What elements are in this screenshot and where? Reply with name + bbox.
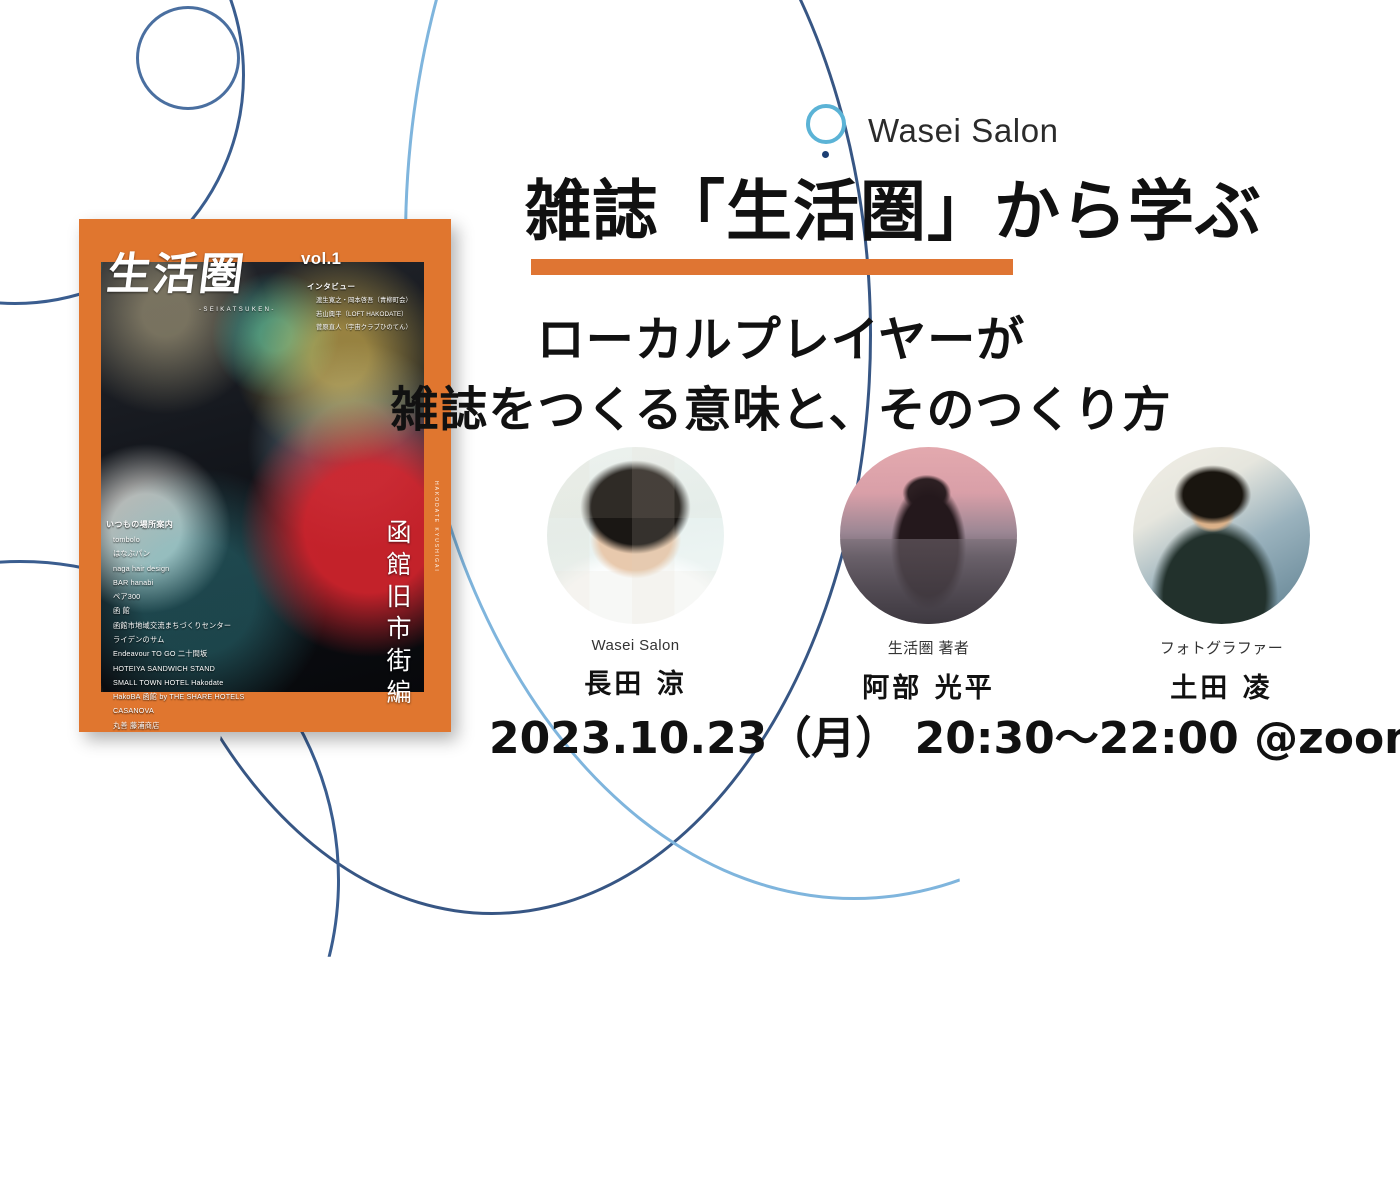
interview-item: 菅原直人（宇宙クラブひのてん） — [316, 324, 432, 332]
place-list-item: ライデンのサム — [113, 636, 336, 644]
decorative-circle-small — [136, 6, 240, 110]
speaker-card: 生活圏 著者 阿部 光平 — [782, 447, 1075, 705]
place-list-item: CASANOVA — [113, 707, 336, 715]
place-list-item: HOTEIYA SANDWICH STAND — [113, 665, 336, 673]
logo-dot-shape — [822, 151, 829, 158]
speaker-name: 土田 凌 — [1170, 666, 1272, 705]
speaker-name: 長田 涼 — [584, 662, 686, 701]
speaker-role: Wasei Salon — [591, 637, 679, 654]
page-title: 雑誌「生活圏」から学ぶ — [525, 176, 1355, 247]
subtitle-line-2: 雑誌をつくる意味と、そのつくり方 — [81, 370, 1400, 440]
speaker-card: Wasei Salon 長田 涼 — [489, 447, 782, 705]
place-list-item: 函 館 — [113, 607, 336, 615]
interview-heading: インタビュー — [307, 281, 432, 292]
title-underline-bar — [531, 259, 1013, 275]
place-list-item: tombolo — [113, 536, 336, 544]
place-list-item: ペア300 — [113, 593, 336, 601]
place-list-item: 丸善 藤浦商店 — [113, 722, 336, 730]
magazine-volume: vol.1 — [301, 249, 341, 269]
place-list-item: BAR hanabi — [113, 579, 336, 587]
magazine-title-romaji: -SEIKATSUKEN- — [199, 307, 276, 313]
interview-item: 若山興平（LOFT HAKODATE） — [316, 311, 432, 319]
speaker-role: フォトグラファー — [1160, 637, 1283, 658]
speaker-name: 阿部 光平 — [862, 666, 994, 705]
magazine-vertical-title: 函館旧市街編 — [379, 519, 415, 711]
place-list-item: 函館市地域交流まちづくりセンター — [113, 622, 336, 630]
place-list-item: SMALL TOWN HOTEL Hakodate — [113, 679, 336, 687]
poster-canvas: 生活圏 -SEIKATSUKEN- vol.1 インタビュー 渡生寛之・岡本啓吾… — [0, 0, 1400, 864]
speaker-avatar — [1133, 447, 1310, 624]
interview-item: 渡生寛之・岡本啓吾（青柳町会） — [316, 297, 432, 305]
magazine-title-logo: 生活圏 — [103, 245, 326, 311]
magazine-cover: 生活圏 -SEIKATSUKEN- vol.1 インタビュー 渡生寛之・岡本啓吾… — [79, 219, 451, 732]
place-list-heading: いつもの場所案内 — [106, 519, 336, 530]
magazine-place-list: いつもの場所案内 tombolo はなぶパン naga hair design … — [106, 519, 336, 732]
brand-name: Wasei Salon — [868, 112, 1059, 150]
place-list-item: Endeavour TO GO 二十間坂 — [113, 650, 336, 658]
speaker-avatar — [547, 447, 724, 624]
brand-lockup: Wasei Salon — [806, 104, 1059, 158]
event-datetime: 2023.10.23（月） 20:30〜22:00 @zoom — [489, 702, 1369, 766]
magazine-vertical-romaji: HAKODATE KYUSHIGAI — [433, 481, 439, 573]
speaker-role: 生活圏 著者 — [888, 637, 970, 658]
speaker-avatar — [840, 447, 1017, 624]
place-list-item: はなぶパン — [113, 550, 336, 558]
place-list-item: HakoBA 函館 by THE SHARE HOTELS — [113, 693, 336, 701]
wasei-salon-logo-icon — [806, 104, 852, 158]
cover-strip-left — [79, 219, 101, 732]
magazine-interview-block: インタビュー 渡生寛之・岡本啓吾（青柳町会） 若山興平（LOFT HAKODAT… — [307, 281, 432, 338]
speaker-card: フォトグラファー 土田 凌 — [1075, 447, 1368, 705]
place-list-item: naga hair design — [113, 565, 336, 573]
logo-ring-shape — [806, 104, 846, 144]
speakers-row: Wasei Salon 長田 涼 生活圏 著者 阿部 光平 フォトグラファー 土… — [489, 447, 1369, 705]
